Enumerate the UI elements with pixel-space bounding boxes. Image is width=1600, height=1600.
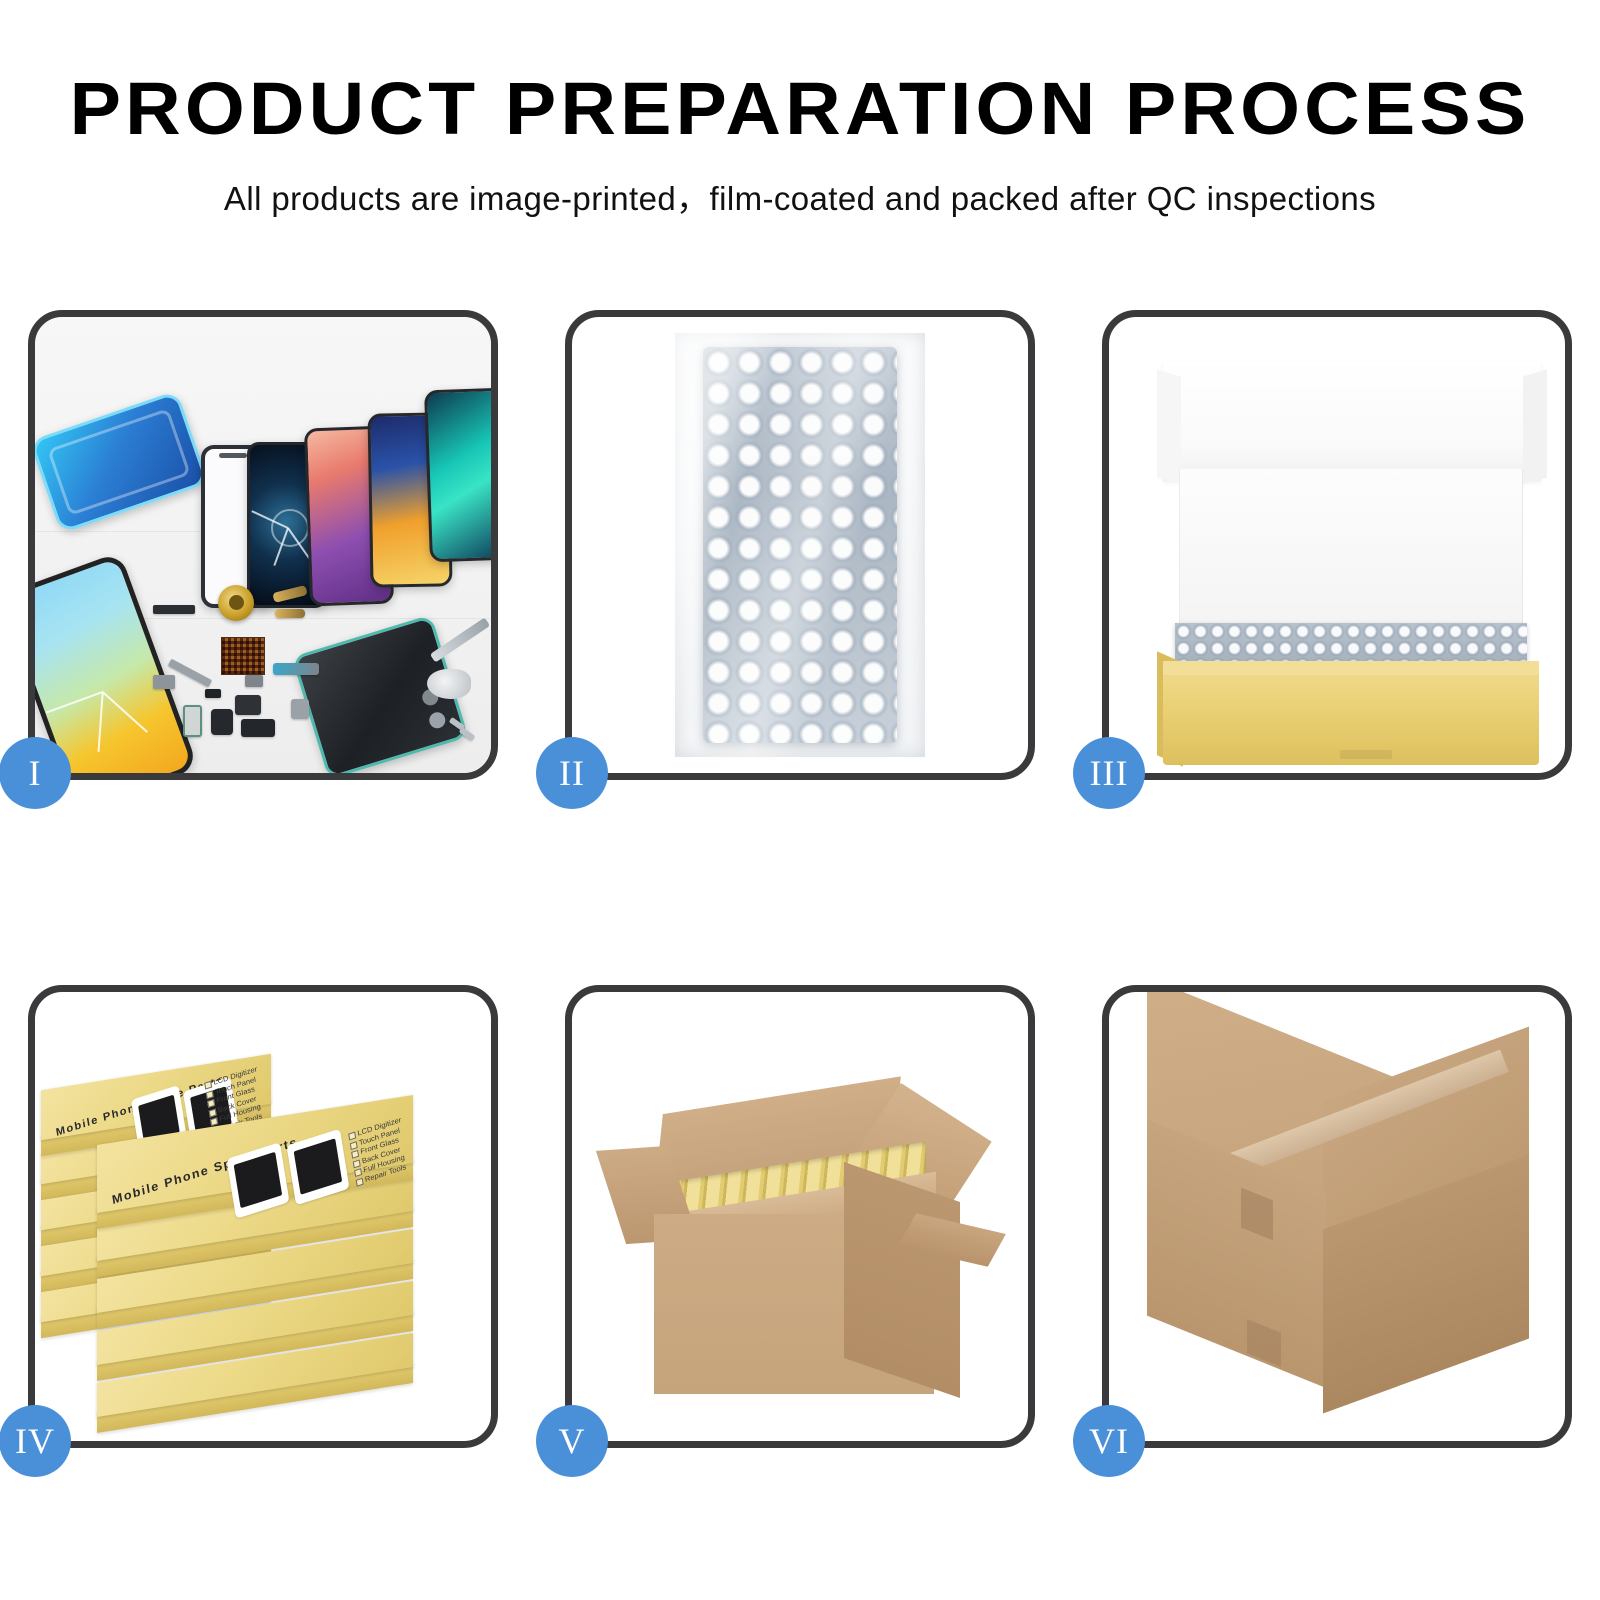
- screw-part: [459, 727, 476, 741]
- step-panel-2[interactable]: II: [565, 310, 1035, 780]
- sim-tray-part: [183, 705, 202, 737]
- retail-box-printed: Mobile Phone Spare Parts LCD Digitizer T…: [97, 1120, 413, 1206]
- step-panel-5[interactable]: V: [565, 985, 1035, 1448]
- step-5-image: [572, 992, 1028, 1441]
- page-subtitle: All products are image-printed，film-coat…: [0, 172, 1600, 220]
- button-part: [205, 689, 221, 698]
- box-front-wall: [1163, 673, 1539, 765]
- retail-box: [97, 1358, 413, 1410]
- step-1-image: [35, 317, 491, 773]
- step-panel-6[interactable]: VI: [1102, 985, 1572, 1448]
- step-badge-2: II: [536, 737, 608, 809]
- ic-chip-part: [221, 637, 265, 675]
- step-4-image: Mobile Phone Spare Parts LCD Digitizer T…: [35, 992, 491, 1441]
- step-badge-1: I: [0, 737, 71, 809]
- step-panel-3[interactable]: III: [1102, 310, 1572, 780]
- ic-part: [153, 675, 175, 689]
- page-header: PRODUCT PREPARATION PROCESS All products…: [0, 0, 1600, 220]
- open-shipping-carton: [606, 1054, 986, 1410]
- earpiece-part: [153, 605, 195, 614]
- step-badge-5: V: [536, 1405, 608, 1477]
- adhesive-frame-part: [35, 390, 209, 533]
- bubble-wrapped-product: [675, 333, 925, 757]
- carton-side-face: [844, 1162, 960, 1398]
- vibrator-part: [291, 699, 309, 719]
- step-panel-4[interactable]: Mobile Phone Spare Parts LCD Digitizer T…: [28, 985, 498, 1448]
- step-panel-1[interactable]: I: [28, 310, 498, 780]
- battery-connector-part: [241, 719, 275, 737]
- process-step-grid: I II III: [28, 310, 1572, 1448]
- retail-box-stack: Mobile Phone Spare Parts LCD Digitizer T…: [35, 1016, 491, 1426]
- phone-screen-teal: [424, 388, 491, 563]
- flex-cable-part: [273, 663, 319, 675]
- flex-cable-part: [275, 609, 305, 618]
- ic-part: [245, 675, 263, 687]
- speaker-part: [235, 695, 261, 715]
- box-lid: [1163, 361, 1541, 481]
- open-mailer-box: [1157, 361, 1545, 711]
- box-back-wall: [1179, 469, 1523, 629]
- speaker-part: [211, 709, 233, 735]
- sealed-shipping-carton: [1137, 1044, 1541, 1404]
- step-2-image: [572, 317, 1028, 773]
- step-badge-6: VI: [1073, 1405, 1145, 1477]
- step-3-image: [1109, 317, 1565, 773]
- brush-tool-part: [427, 669, 471, 699]
- step-badge-3: III: [1073, 737, 1145, 809]
- step-badge-4: IV: [0, 1405, 71, 1477]
- step-6-image: [1109, 992, 1565, 1441]
- page-title: PRODUCT PREPARATION PROCESS: [0, 72, 1600, 146]
- charging-coil-part: [218, 585, 254, 621]
